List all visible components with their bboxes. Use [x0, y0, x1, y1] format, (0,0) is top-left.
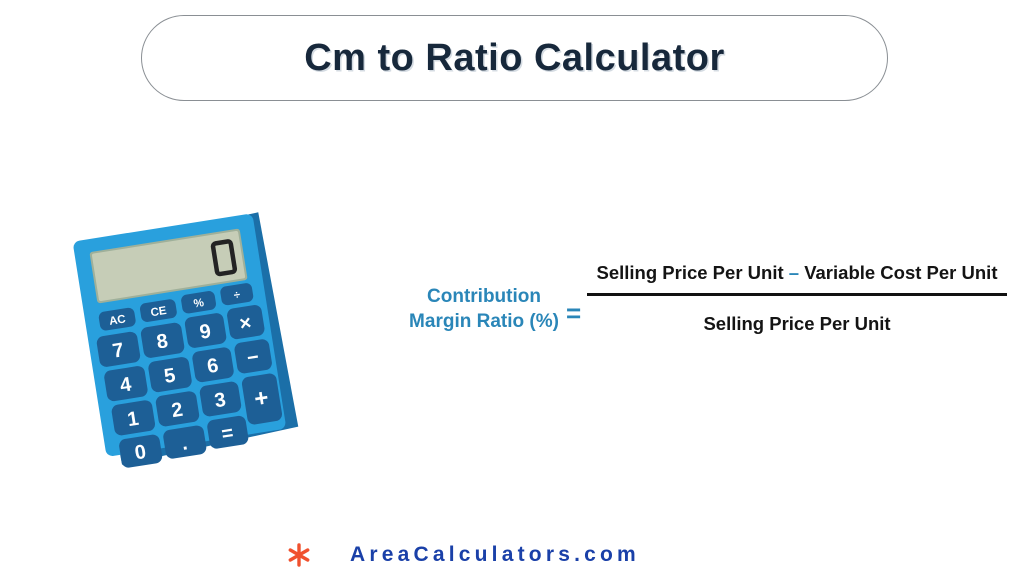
calculator-key-ac: AC: [108, 313, 126, 327]
formula-label-line-1: Contribution: [405, 284, 563, 309]
numerator-minus-operator: –: [789, 262, 799, 283]
fraction: Selling Price Per Unit – Variable Cost P…: [587, 258, 1007, 339]
formula-label: Contribution Margin Ratio (%): [405, 284, 563, 334]
calculator-key-percent: %: [193, 297, 205, 310]
calculator-key-ce: CE: [150, 305, 168, 319]
calculator-illustration: AC CE % ÷ 7 8 9 ×: [30, 182, 330, 482]
fraction-denominator: Selling Price Per Unit: [587, 309, 1007, 339]
calculator-icon: AC CE % ÷ 7 8 9 ×: [30, 182, 330, 482]
page-title: Cm to Ratio Calculator: [304, 37, 725, 80]
numerator-term-left: Selling Price Per Unit: [597, 262, 784, 283]
title-pill-container: Cm to Ratio Calculator: [141, 15, 888, 101]
asterisk-star-icon: [286, 542, 312, 568]
formula-block: Contribution Margin Ratio (%) = Selling …: [405, 258, 1015, 368]
equals-sign: =: [566, 298, 581, 329]
brand-name: AreaCalculators.com: [350, 543, 640, 567]
formula-label-line-2: Margin Ratio (%): [405, 309, 563, 334]
numerator-term-right: Variable Cost Per Unit: [804, 262, 997, 283]
fraction-numerator: Selling Price Per Unit – Variable Cost P…: [587, 258, 1007, 288]
fraction-bar: [587, 293, 1007, 296]
footer-brand: AreaCalculators.com: [286, 538, 640, 572]
